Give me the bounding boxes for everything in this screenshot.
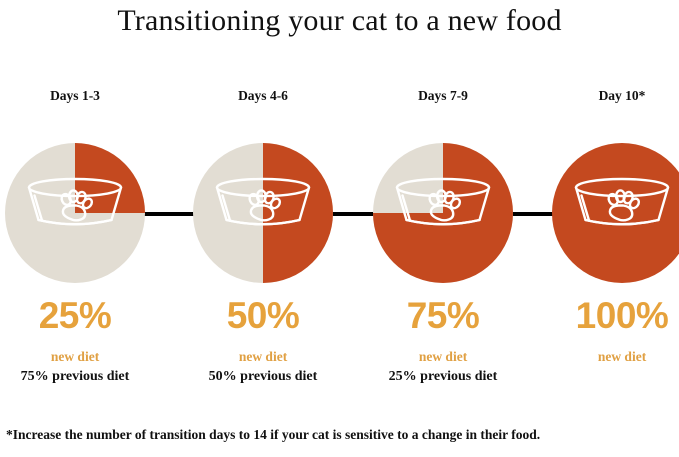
step-day-label: Day 10*	[537, 88, 679, 104]
step-new-diet-label: new diet	[537, 349, 679, 365]
step-pie-3	[373, 143, 513, 283]
pie-svg	[5, 143, 145, 283]
pie-svg	[193, 143, 333, 283]
step-percent: 50%	[178, 297, 348, 334]
step-percent: 75%	[358, 297, 528, 334]
page-title: Transitioning your cat to a new food	[0, 4, 679, 38]
footnote-text: *Increase the number of transition days …	[6, 427, 676, 443]
step-percent: 100%	[537, 297, 679, 334]
step-previous-diet-label: 50% previous diet	[178, 369, 348, 385]
step-day-label: Days 1-3	[0, 88, 160, 104]
step-new-diet-label: new diet	[0, 349, 160, 365]
step-new-diet-label: new diet	[358, 349, 528, 365]
pie-svg	[552, 143, 679, 283]
step-previous-diet-label: 75% previous diet	[0, 369, 160, 385]
pie-svg	[373, 143, 513, 283]
step-pie-4	[552, 143, 679, 283]
step-pie-2	[193, 143, 333, 283]
infographic-page: Transitioning your cat to a new food Day…	[0, 0, 679, 457]
step-day-label: Days 4-6	[178, 88, 348, 104]
step-day-label: Days 7-9	[358, 88, 528, 104]
step-pie-1	[5, 143, 145, 283]
step-percent: 25%	[0, 297, 160, 334]
step-new-diet-label: new diet	[178, 349, 348, 365]
new-food-slice	[75, 143, 145, 213]
step-previous-diet-label: 25% previous diet	[358, 369, 528, 385]
